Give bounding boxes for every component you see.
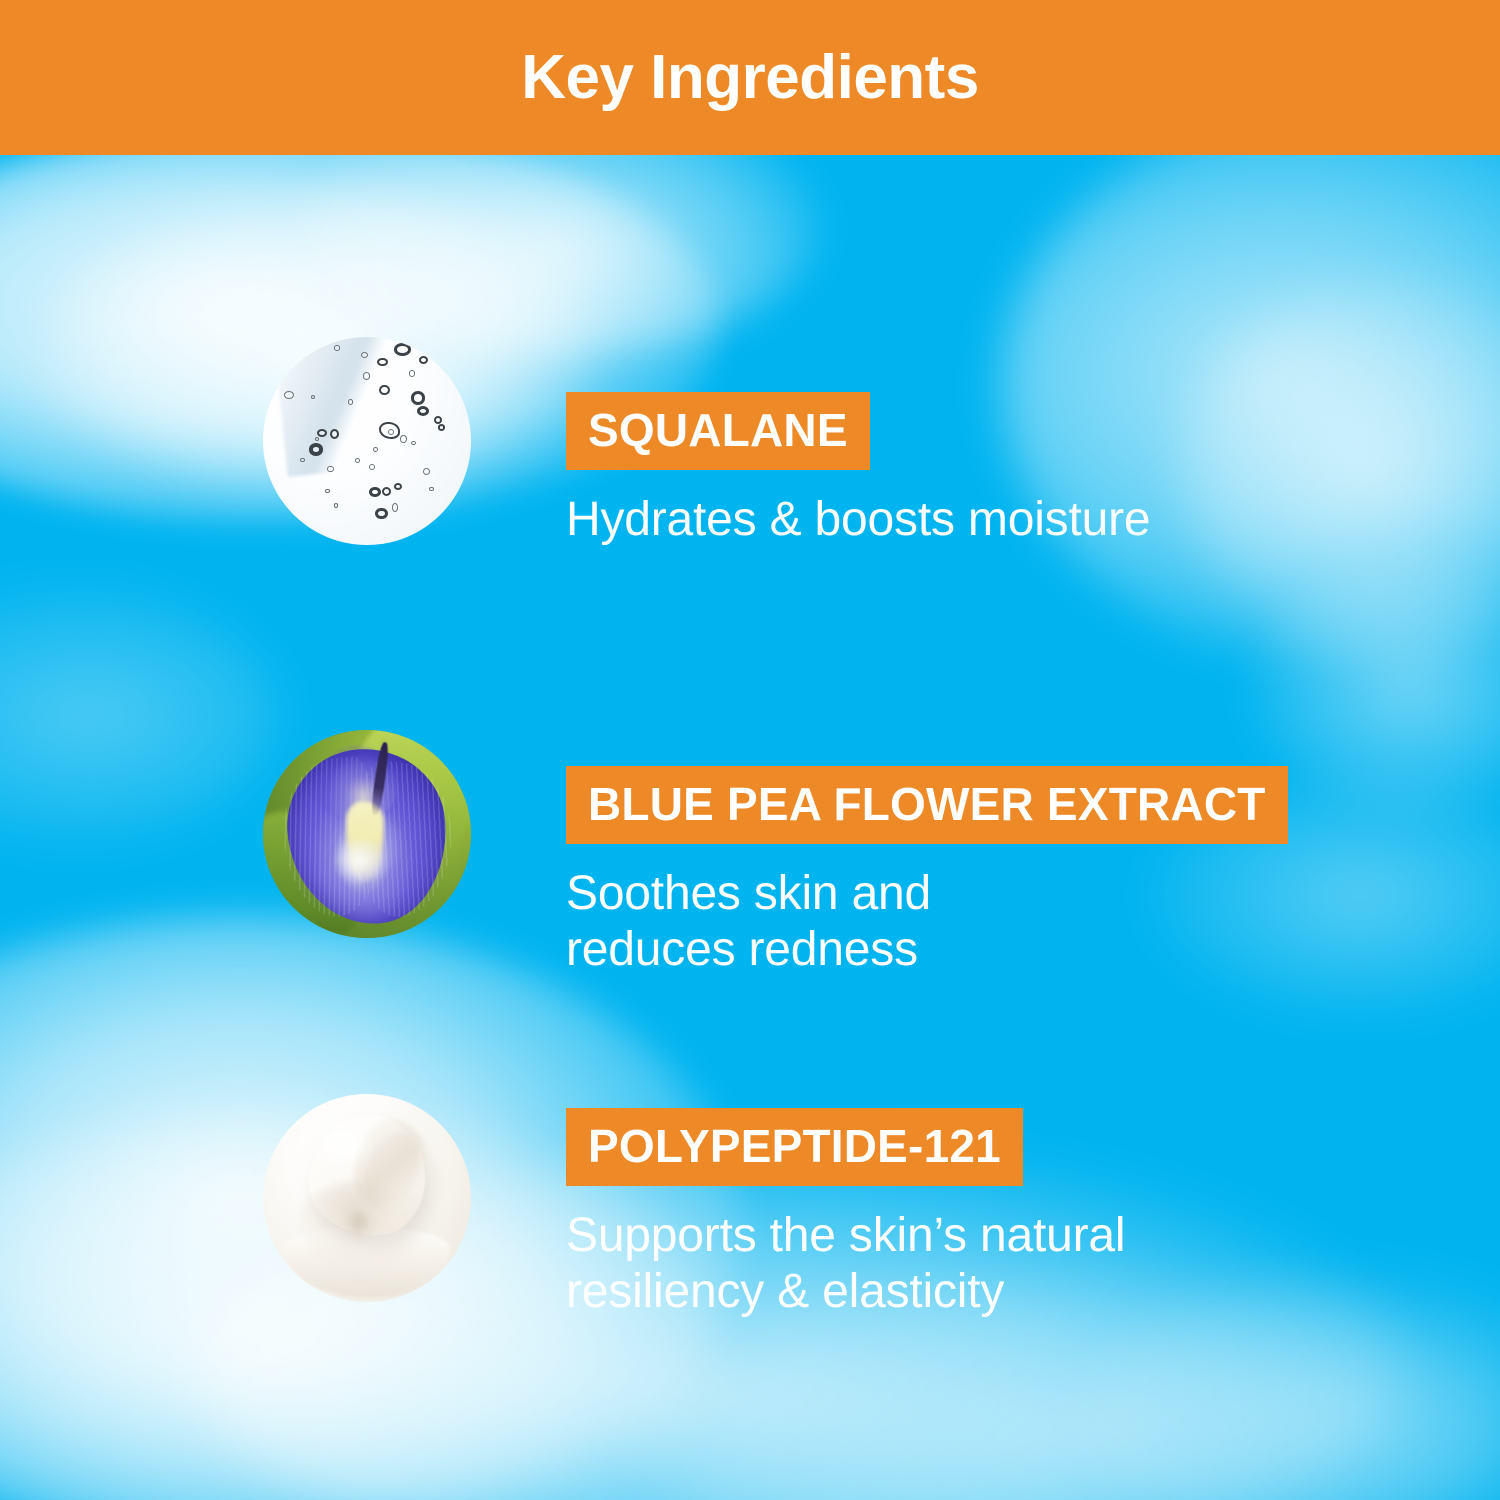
- ingredient-text: POLYPEPTIDE-121 Supports the skin’s natu…: [566, 1108, 1125, 1320]
- ingredient-name-badge: BLUE PEA FLOWER EXTRACT: [566, 766, 1288, 844]
- ingredient-description: Hydrates & boosts moisture: [566, 492, 1150, 548]
- page-title: Key Ingredients: [521, 47, 979, 109]
- ingredient-name-badge: POLYPEPTIDE-121: [566, 1108, 1023, 1186]
- blue-pea-flower-swatch-icon: [263, 730, 471, 938]
- ingredient-description: Supports the skin’s natural resiliency &…: [566, 1208, 1125, 1320]
- ingredient-text: BLUE PEA FLOWER EXTRACT Soothes skin and…: [566, 766, 1288, 978]
- white-cream-swatch-icon: [263, 1094, 471, 1302]
- header-bar: Key Ingredients: [0, 0, 1500, 155]
- clear-gel-swatch-icon: [263, 337, 471, 545]
- ingredients-infographic: Key Ingredients: [0, 0, 1500, 1500]
- ingredient-description: Soothes skin and reduces redness: [566, 866, 1288, 978]
- ingredient-text: SQUALANE Hydrates & boosts moisture: [566, 392, 1150, 548]
- ingredients-list: SQUALANE Hydrates & boosts moisture: [0, 155, 1500, 1500]
- ingredient-name-badge: SQUALANE: [566, 392, 870, 470]
